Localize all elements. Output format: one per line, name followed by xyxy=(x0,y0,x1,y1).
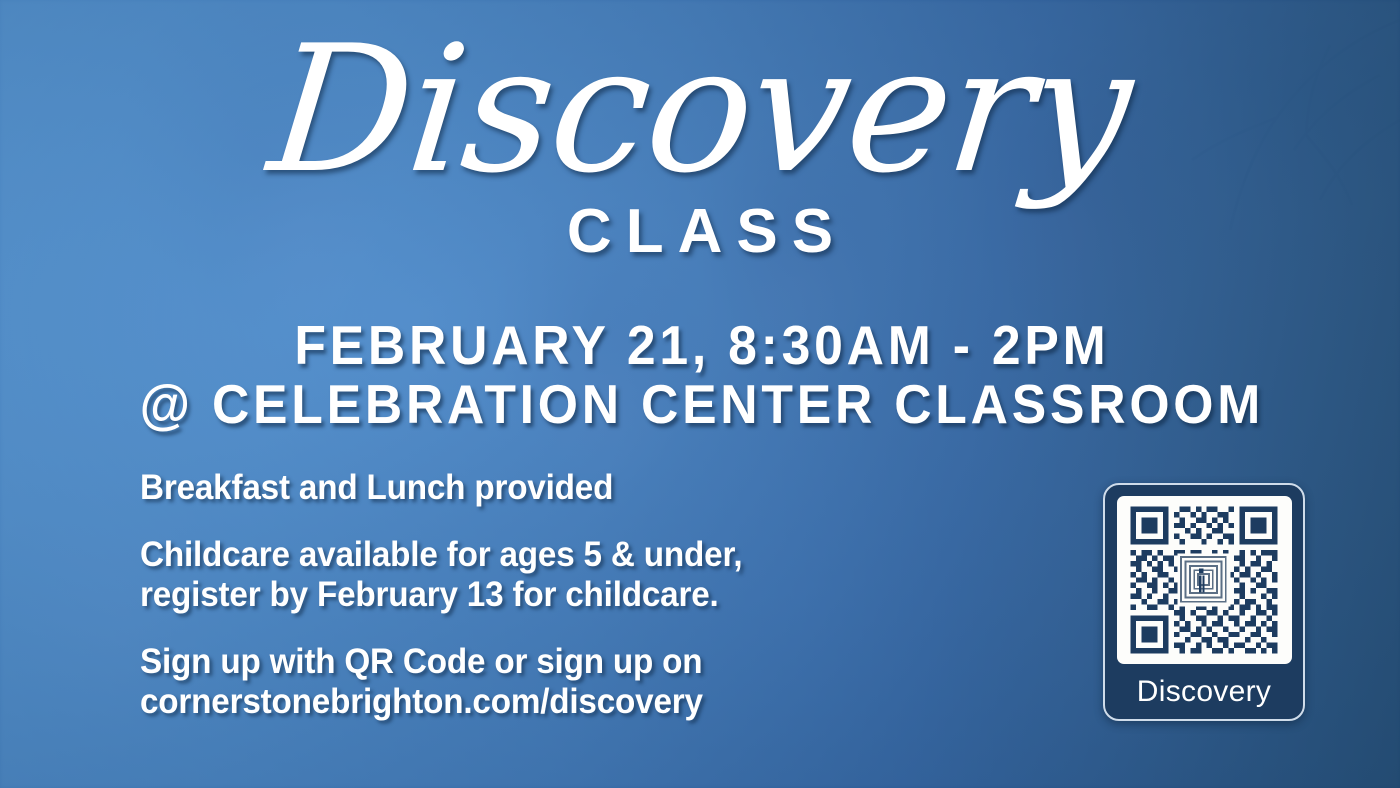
qr-code-icon[interactable] xyxy=(1117,496,1292,664)
event-details: Breakfast and Lunch provided Childcare a… xyxy=(140,468,930,723)
discovery-class-flyer: Discovery CLASS FEBRUARY 21, 8:30AM - 2P… xyxy=(0,0,1400,788)
event-location: @ CELEBRATION CENTER CLASSROOM xyxy=(42,375,1358,434)
detail-signup-line2: cornerstonebrighton.com/discovery xyxy=(140,682,891,723)
detail-signup-line1: Sign up with QR Code or sign up on xyxy=(140,642,891,683)
qr-code-matrix xyxy=(1125,501,1283,659)
qr-code-card[interactable]: Discovery xyxy=(1103,483,1305,721)
detail-childcare-line1: Childcare available for ages 5 & under, xyxy=(140,535,891,576)
detail-meals-line1: Breakfast and Lunch provided xyxy=(140,468,891,509)
detail-childcare-line2: register by February 13 for childcare. xyxy=(140,575,891,616)
detail-signup: Sign up with QR Code or sign up on corne… xyxy=(140,642,891,723)
page-title: Discovery xyxy=(0,22,1400,201)
event-date-time: FEBRUARY 21, 8:30AM - 2PM xyxy=(42,316,1358,375)
detail-childcare: Childcare available for ages 5 & under, … xyxy=(140,535,891,616)
qr-caption: Discovery xyxy=(1137,664,1271,719)
detail-meals: Breakfast and Lunch provided xyxy=(140,468,891,509)
event-schedule: FEBRUARY 21, 8:30AM - 2PM @ CELEBRATION … xyxy=(42,316,1358,435)
page-subtitle: CLASS xyxy=(0,196,1400,267)
